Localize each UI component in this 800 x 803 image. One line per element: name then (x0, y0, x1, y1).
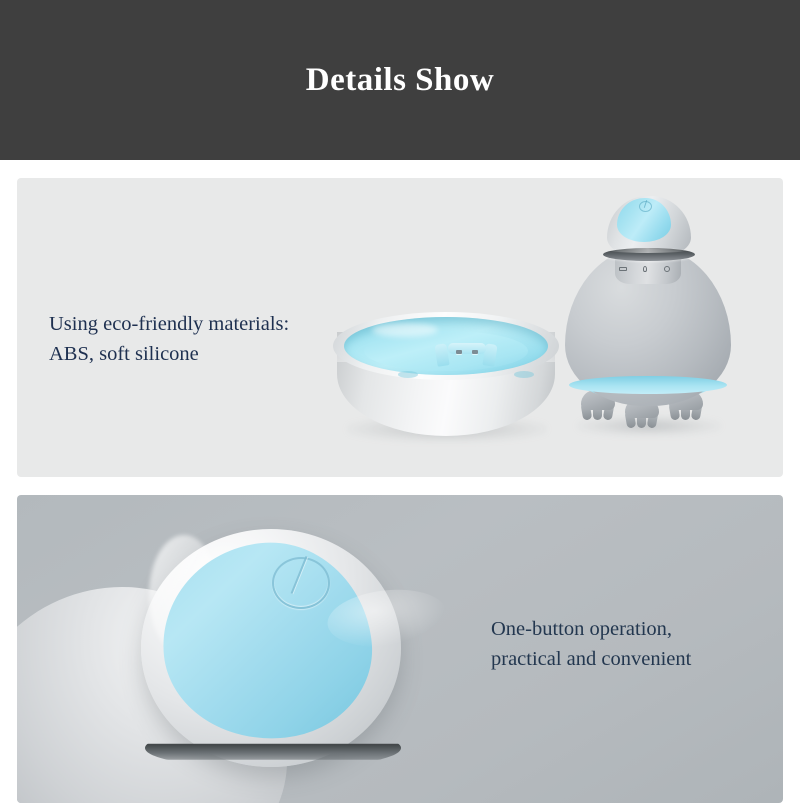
battery-icon-shape (619, 267, 627, 271)
caption-operation-line1: One-button operation, (491, 614, 691, 644)
mode-icon (641, 266, 649, 272)
bowl-rim (333, 312, 559, 380)
panel-operation: One-button operation, practical and conv… (17, 495, 783, 803)
header-banner: Details Show (0, 0, 800, 160)
page-title: Details Show (306, 64, 494, 97)
charging-contact (456, 350, 462, 354)
bowl-highlight (372, 323, 438, 337)
caption-materials-line2: ABS, soft silicone (49, 339, 289, 369)
bowl-center-ridge (448, 343, 486, 354)
battery-icon (619, 266, 627, 272)
mode-icon-shape (643, 266, 647, 272)
caption-materials-line1: Using eco-friendly materials: (49, 309, 289, 339)
power-button-dome[interactable] (617, 198, 671, 242)
silicone-band-top (569, 376, 727, 394)
seam-highlight (611, 248, 685, 253)
caption-operation-line2: practical and convenient (491, 644, 691, 674)
massager-unit (563, 190, 733, 440)
power-symbol-icon (272, 557, 330, 609)
bowl-notch (514, 371, 534, 378)
caption-operation: One-button operation, practical and conv… (491, 614, 691, 674)
charging-contact (472, 350, 478, 354)
bowl-silicone-interior (344, 317, 548, 375)
caption-materials: Using eco-friendly materials: ABS, soft … (49, 309, 289, 369)
power-icon (639, 201, 652, 212)
bowl-floor (364, 331, 528, 371)
button-highlight (325, 584, 450, 652)
panel-materials: Using eco-friendly materials: ABS, soft … (17, 178, 783, 477)
charging-base-bowl (333, 312, 559, 442)
power-ring-icon (663, 266, 671, 272)
bowl-notch (398, 371, 418, 378)
power-ring-icon-shape (664, 266, 670, 272)
